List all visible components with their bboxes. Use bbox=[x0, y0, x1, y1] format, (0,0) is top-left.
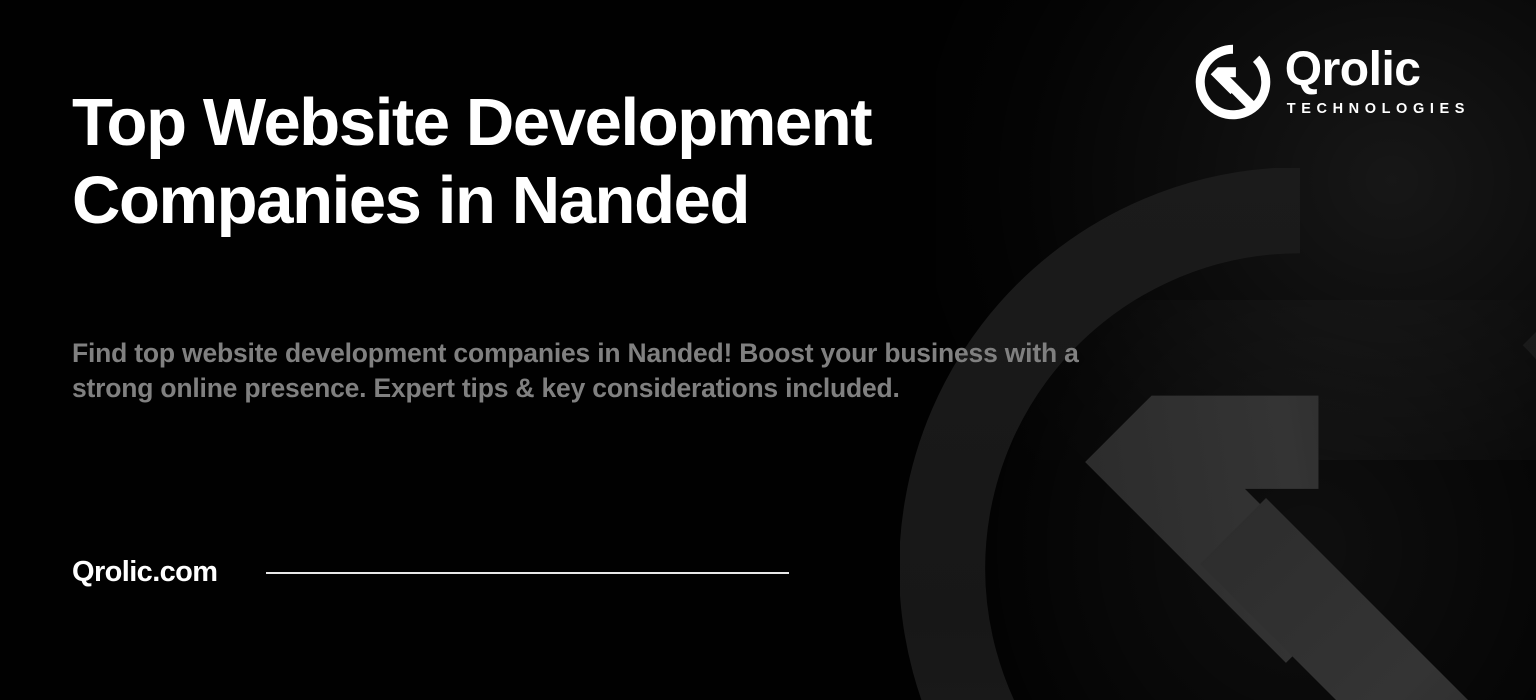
qrolic-q-arrow-icon bbox=[1195, 44, 1271, 120]
subtitle: Find top website development companies i… bbox=[72, 336, 1127, 405]
footer: Qrolic.com bbox=[72, 556, 789, 589]
headline-line-1: Top Website Development bbox=[72, 85, 871, 160]
promo-banner: Qrolic TECHNOLOGIES Top Website Developm… bbox=[0, 0, 1536, 700]
headline: Top Website Development Companies in Nan… bbox=[72, 84, 1092, 239]
logo-wordmark: Qrolic bbox=[1285, 47, 1421, 93]
headline-line-2: Companies in Nanded bbox=[72, 162, 1092, 240]
qrolic-watermark-logo bbox=[900, 168, 1536, 700]
logo-tagline: TECHNOLOGIES bbox=[1287, 101, 1470, 117]
footer-divider-rule bbox=[266, 572, 789, 574]
qrolic-logo[interactable]: Qrolic TECHNOLOGIES bbox=[1195, 44, 1470, 120]
footer-website-label[interactable]: Qrolic.com bbox=[72, 556, 218, 589]
